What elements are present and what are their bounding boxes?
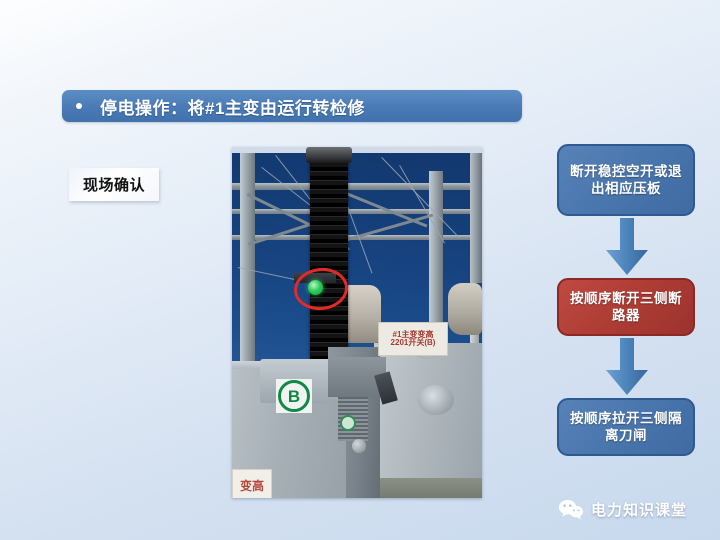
insulator-top-cap — [306, 147, 352, 163]
page-title: 停电操作：将#1主变由运行转检修 — [100, 94, 365, 119]
cabinet-round-vent — [418, 385, 454, 415]
side-label-text: 变高 — [240, 477, 264, 494]
flow-step-1-label: 断开稳控空开或退出相应压板 — [567, 163, 685, 198]
bullet-icon — [76, 103, 82, 109]
callout-label: 现场确认 — [83, 174, 145, 195]
phase-marker-sign: B — [276, 379, 312, 413]
arrow-down-icon — [604, 338, 650, 396]
watermark: 电力知识课堂 — [558, 498, 687, 520]
road-strip — [366, 477, 482, 498]
gantry-column-far-right — [470, 153, 482, 283]
breaker-insulator-column — [310, 149, 348, 377]
arrow-down-icon — [604, 218, 650, 276]
flow-step-3[interactable]: 按顺序拉开三侧隔离刀闸 — [557, 398, 695, 456]
flow-step-2-label: 按顺序断开三侧断路器 — [567, 290, 685, 325]
substation-breaker-photo: #1主变变高 2201开关(B) B 变高 — [232, 147, 482, 498]
watermark-text: 电力知识课堂 — [591, 499, 687, 520]
operation-flow-chart: 断开稳控空开或退出相应压板 按顺序断开三侧断路器 — [557, 144, 697, 456]
gantry-beam-upper — [232, 183, 482, 190]
nameplate-line-2: 2201开关(B) — [391, 339, 436, 347]
photo-top-edge — [232, 147, 482, 153]
slide-title-banner: 停电操作：将#1主变由运行转检修 — [62, 90, 522, 122]
flow-step-3-label: 按顺序拉开三侧隔离刀闸 — [567, 410, 685, 445]
side-label-sign: 变高 — [232, 469, 272, 498]
wechat-icon — [558, 498, 584, 520]
flow-arrow-1-wrap — [557, 216, 697, 278]
flow-step-2[interactable]: 按顺序断开三侧断路器 — [557, 278, 695, 336]
gantry-beam-middle — [232, 209, 482, 214]
flow-arrow-2-wrap — [557, 336, 697, 398]
slide-canvas: 停电操作：将#1主变由运行转检修 现场确认 — [0, 0, 720, 540]
equipment-nameplate: #1主变变高 2201开关(B) — [378, 322, 448, 356]
callout-site-confirmation: 现场确认 — [69, 168, 159, 201]
porcelain-bushing-right — [448, 283, 482, 335]
phase-letter: B — [278, 380, 310, 412]
flow-step-1[interactable]: 断开稳控空开或退出相应压板 — [557, 144, 695, 216]
phase-marker-small — [340, 415, 356, 431]
cabinet-handle — [352, 439, 366, 453]
